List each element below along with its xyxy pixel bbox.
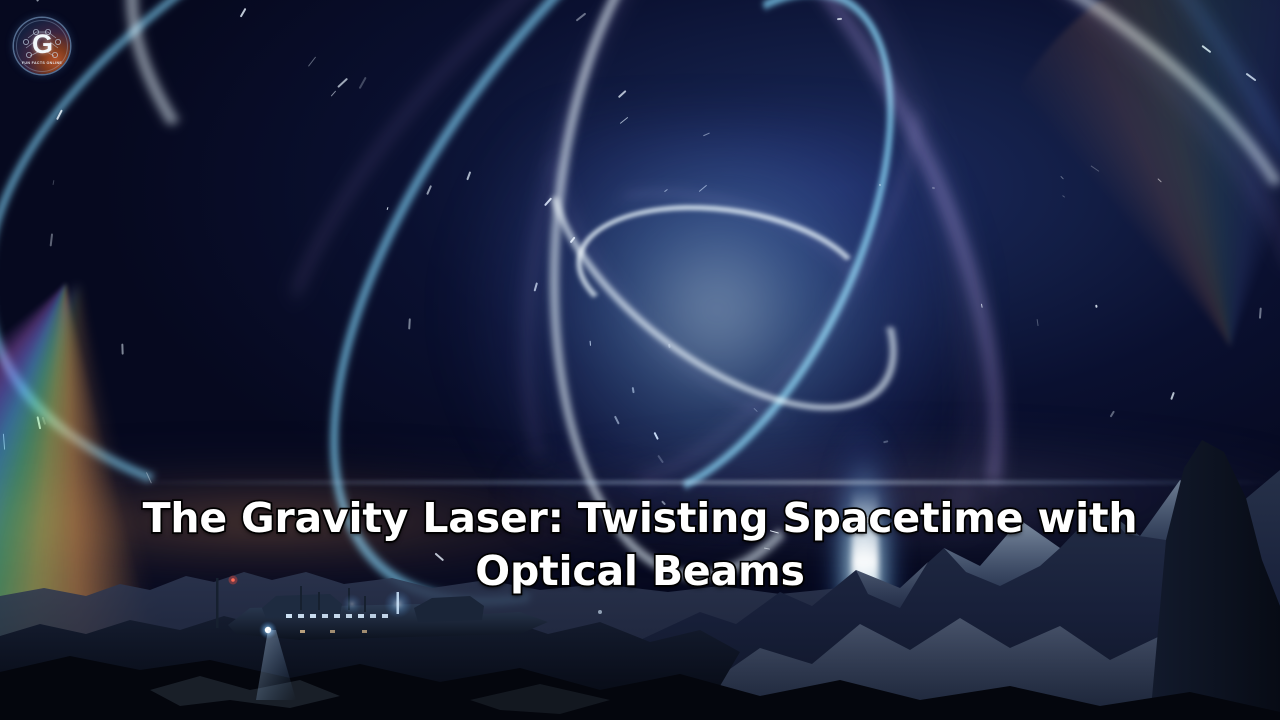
vortex-beam-spike xyxy=(852,490,878,591)
thumbnail-canvas: G FUN FACTS ONLINE The Gravity Laser: Tw… xyxy=(0,0,1280,720)
fun-facts-online-logo[interactable]: G FUN FACTS ONLINE xyxy=(14,18,70,74)
horizontal-light-streak xyxy=(102,481,1280,484)
night-sky-background xyxy=(0,0,1280,720)
logo-tagline: FUN FACTS ONLINE xyxy=(14,61,70,65)
logo-monogram: G xyxy=(32,31,52,58)
